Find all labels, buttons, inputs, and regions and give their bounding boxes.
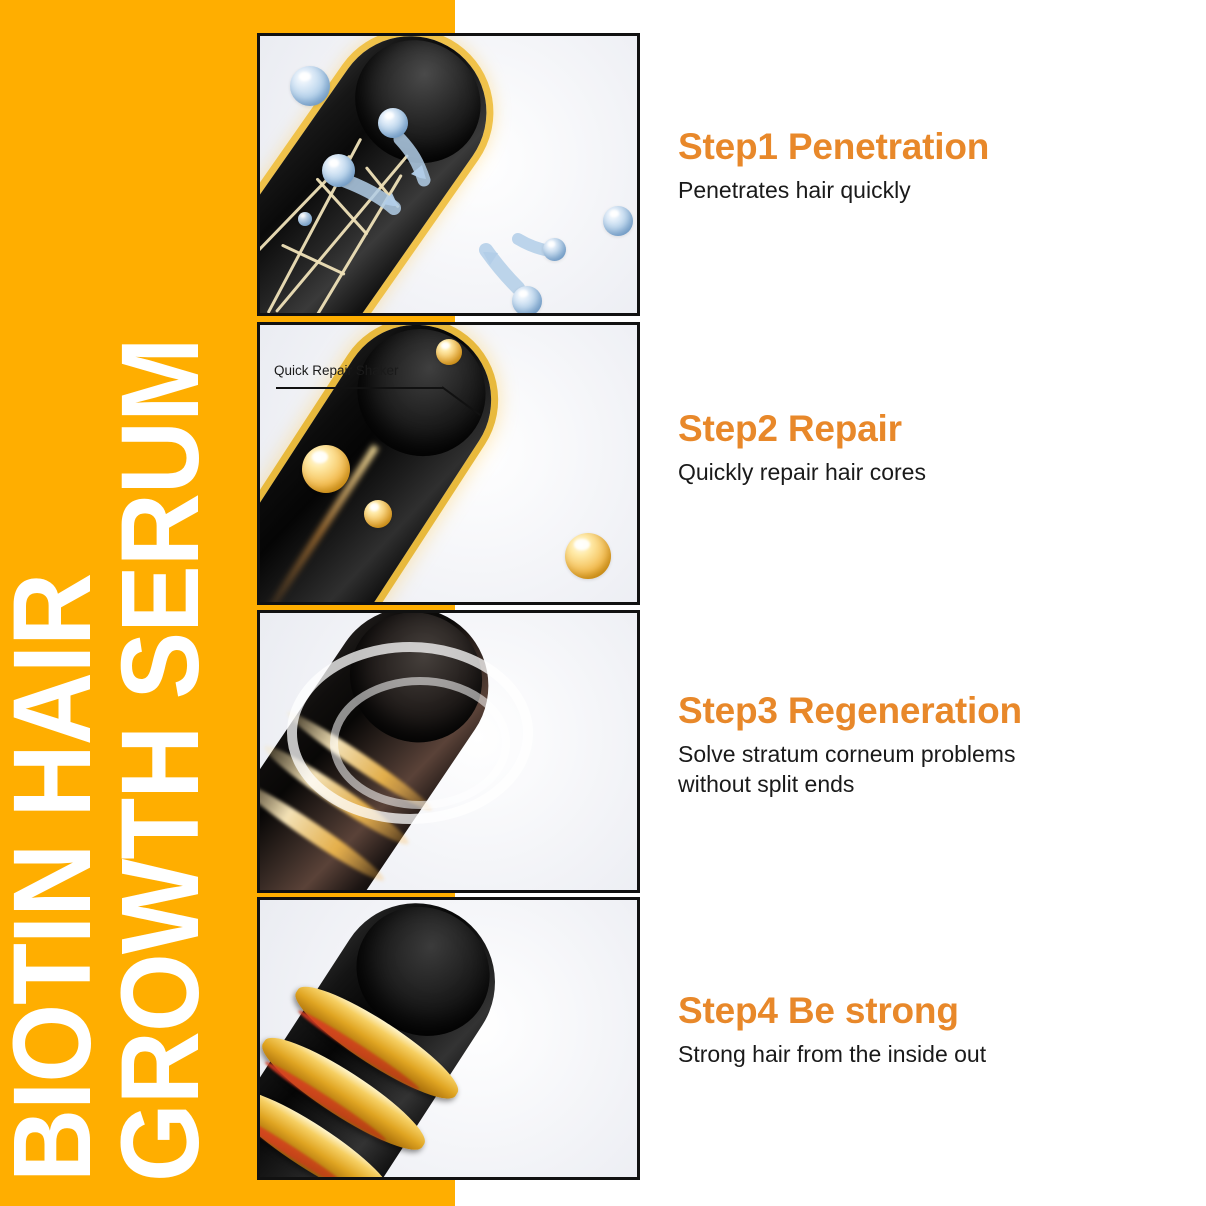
panel-regeneration [257, 610, 640, 893]
step-1-body: Penetrates hair quickly [678, 176, 1178, 205]
step-4-body-line-1: Strong hair from the inside out [678, 1040, 1178, 1069]
step-2-heading: Step2 Repair [678, 408, 1178, 449]
serum-droplet [436, 339, 462, 365]
step-1-heading: Step1 Penetration [678, 126, 1178, 167]
panel-strength [257, 897, 640, 1180]
panel-penetration [257, 33, 640, 316]
serum-droplet [302, 445, 350, 493]
serum-droplet [364, 500, 392, 528]
step-3-body: Solve stratum corneum problems without s… [678, 740, 1178, 799]
hair-shaft [257, 610, 519, 893]
hair-shaft [257, 897, 525, 1180]
step-3-body-line-1: Solve stratum corneum problems [678, 740, 1178, 769]
serum-bubble [603, 206, 633, 236]
callout-leader-line [276, 387, 444, 389]
hair-shaft-illustration: Quick Repair Shaker [260, 325, 637, 602]
callout-label: Quick Repair Shaker [274, 363, 474, 378]
panel-repair: Quick Repair Shaker [257, 322, 640, 605]
product-infographic: BIOTIN HAIR GROWTH SERUM [0, 0, 1206, 1206]
callout-leader-diagonal [442, 385, 486, 419]
brand-title-line-2: GROWTH SERUM [108, 339, 214, 1182]
brand-title: BIOTIN HAIR GROWTH SERUM [0, 0, 240, 1206]
serum-bubble [322, 154, 355, 187]
step-block-3: Step3 Regeneration Solve stratum corneum… [678, 690, 1178, 799]
step-3-body-line-2: without split ends [678, 770, 1178, 799]
step-3-heading: Step3 Regeneration [678, 690, 1178, 731]
step-2-body: Quickly repair hair cores [678, 458, 1178, 487]
hair-shaft-illustration [260, 613, 637, 890]
serum-bubble [290, 66, 330, 106]
hair-shaft-illustration [260, 36, 637, 313]
step-block-2: Step2 Repair Quickly repair hair cores [678, 408, 1178, 488]
brand-title-line-1: BIOTIN HAIR [0, 574, 106, 1182]
step-4-heading: Step4 Be strong [678, 990, 1178, 1031]
hair-shaft-illustration [260, 900, 637, 1177]
step-block-1: Step1 Penetration Penetrates hair quickl… [678, 126, 1178, 206]
step-block-4: Step4 Be strong Strong hair from the ins… [678, 990, 1178, 1070]
step-2-body-line-1: Quickly repair hair cores [678, 458, 1178, 487]
serum-bubble [298, 212, 312, 226]
step-1-body-line-1: Penetrates hair quickly [678, 176, 1178, 205]
serum-bubble [378, 108, 408, 138]
serum-droplet [565, 533, 611, 579]
serum-bubble [512, 286, 542, 316]
step-4-body: Strong hair from the inside out [678, 1040, 1178, 1069]
callout-quick-repair-shaker: Quick Repair Shaker [274, 363, 474, 378]
serum-bubble [543, 238, 566, 261]
